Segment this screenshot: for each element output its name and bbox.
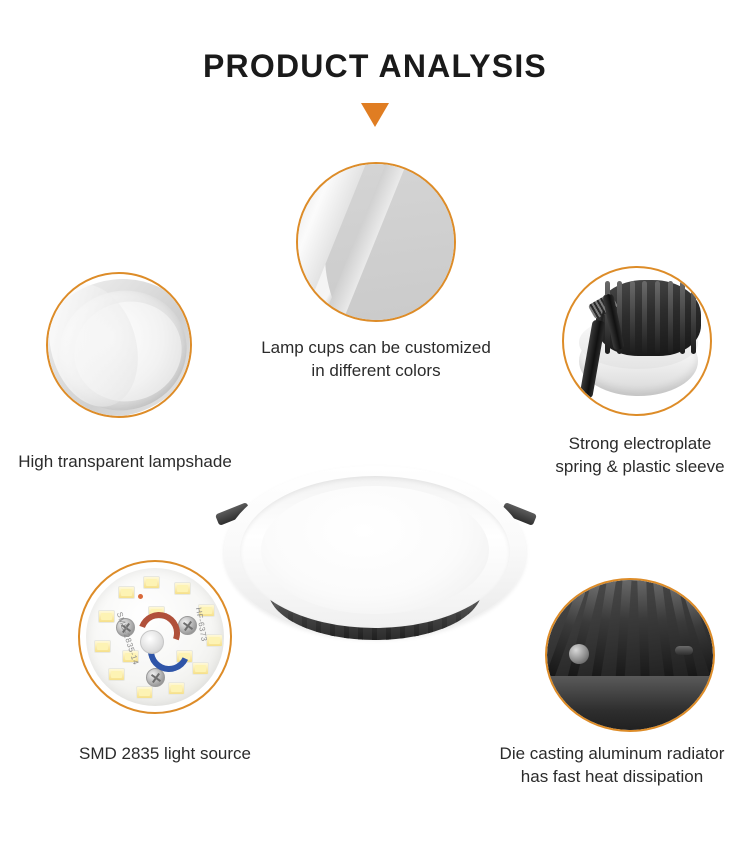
board-screw xyxy=(178,616,197,635)
heatsink-fin xyxy=(680,281,685,354)
pcb-substrate: HF-6373 SMD-2835-14 xyxy=(86,568,224,706)
lampshade-illustration xyxy=(48,274,190,416)
heatsink-fin xyxy=(655,281,660,354)
downlight-diffuser xyxy=(261,486,489,614)
smd-led xyxy=(136,686,153,699)
radiator-nub xyxy=(675,646,693,655)
led-downlight-product-photo xyxy=(224,466,526,666)
pcb-polarity-dot xyxy=(138,594,143,599)
page-title: PRODUCT ANALYSIS xyxy=(0,48,750,85)
caption-lamp-cups: Lamp cups can be customized in different… xyxy=(236,336,516,382)
caption-lampshade: High transparent lampshade xyxy=(0,450,250,473)
pcb-center-hub xyxy=(140,630,164,654)
smd-led xyxy=(192,662,209,675)
smd-led xyxy=(118,586,135,599)
caption-spring-sleeve: Strong electroplate spring & plastic sle… xyxy=(540,432,740,478)
caption-radiator: Die casting aluminum radiator has fast h… xyxy=(482,742,742,788)
smd-led xyxy=(174,582,191,595)
smd-led xyxy=(108,668,125,681)
radiator-base-block xyxy=(547,676,713,730)
triangle-down-icon xyxy=(361,103,389,127)
heatsink-fin xyxy=(630,281,635,354)
smd-led xyxy=(168,682,185,695)
lampshade-photo xyxy=(46,272,192,418)
spring-sleeve-illustration xyxy=(564,268,710,414)
smd-led xyxy=(94,640,111,653)
radiator-screw xyxy=(569,644,589,664)
radiator-illustration xyxy=(547,580,713,730)
heatsink-fin xyxy=(668,281,673,354)
heatsink-fin xyxy=(691,281,696,354)
product-analysis-infographic: PRODUCT ANALYSIS High transparent lampsh… xyxy=(0,0,750,847)
led-board-photo: HF-6373 SMD-2835-14 xyxy=(78,560,232,714)
lamp-cup-closeup-photo xyxy=(296,162,456,322)
heatsink-fin xyxy=(642,281,647,354)
spring-sleeve-photo xyxy=(562,266,712,416)
aluminum-radiator-photo xyxy=(545,578,715,732)
led-board-illustration: HF-6373 SMD-2835-14 xyxy=(80,562,230,712)
lamp-cup-illustration xyxy=(298,164,454,320)
smd-led xyxy=(98,610,115,623)
smd-led xyxy=(143,576,160,589)
caption-smd-light-source: SMD 2835 light source xyxy=(45,742,285,765)
